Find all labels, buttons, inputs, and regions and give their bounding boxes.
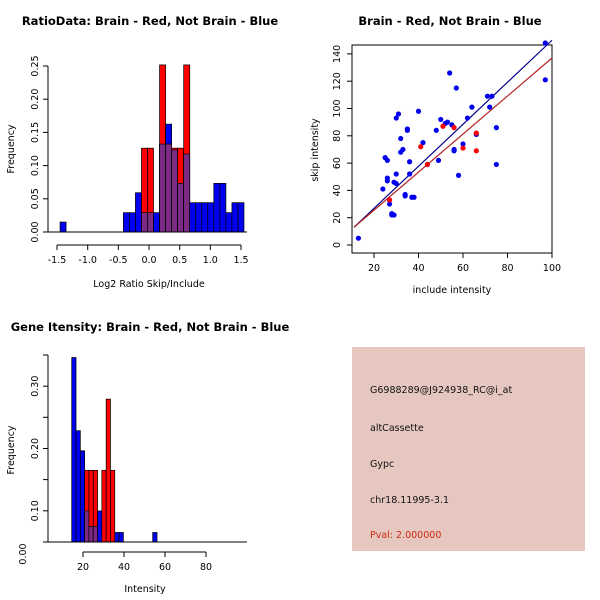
ratio-bar-blue <box>220 183 226 232</box>
scatter-x-tick-20: 20 <box>368 263 380 274</box>
ratio-bar-overlap <box>166 144 172 232</box>
ratio-bar-blue <box>202 203 208 232</box>
gene-bar-blue <box>119 532 123 542</box>
scatter-point <box>391 212 396 217</box>
scatter-point <box>465 115 470 120</box>
gene-bar-blue <box>153 532 157 542</box>
gene-x-tick-20: 20 <box>77 562 89 573</box>
ratio-y-ticklabels: 0.25 0.20 0.15 0.10 0.05 0.00 <box>30 55 41 242</box>
scatter-x-axis-label: include intensity <box>413 285 492 296</box>
ratio-bar-blue <box>154 213 160 232</box>
scatter-point <box>407 171 412 176</box>
scatter-point <box>474 130 479 135</box>
scatter-y-tick-20: 20 <box>332 212 343 224</box>
scatter-point <box>434 128 439 133</box>
gene-x-ticklabels: 20 40 60 80 <box>77 562 212 573</box>
scatter-y-tick-140: 140 <box>332 45 343 63</box>
ratio-bar-blue <box>232 203 238 232</box>
scatter-point <box>447 70 452 75</box>
scatter-point <box>425 162 430 167</box>
scatter-point <box>543 40 548 45</box>
gene-histogram-title: Gene Itensity: Brain - Red, Not Brain - … <box>0 320 300 334</box>
gene-y-ticklabels: 0.30 0.20 0.10 0.00 <box>18 376 41 565</box>
gene-info-panel: G6988289@J924938_RC@i_at altCassette Gyp… <box>352 347 585 551</box>
ratio-y-tick-0.10: 0.10 <box>30 155 41 176</box>
scatter-point <box>489 94 494 99</box>
ratio-bar-blue <box>190 203 196 232</box>
scatter-point <box>460 145 465 150</box>
panel-gene-intensity-histogram: Gene Itensity: Brain - Red, Not Brain - … <box>0 300 300 600</box>
scatter-x-axis <box>374 253 552 258</box>
gene-bar-blue <box>76 431 80 542</box>
scatter-point <box>394 171 399 176</box>
info-probe-id: G6988289@J924938_RC@i_at <box>370 385 512 396</box>
ratio-bar-blue <box>208 203 214 232</box>
ratio-x-axis <box>57 245 241 250</box>
ratio-x-tick-0.0: 0.0 <box>141 255 156 266</box>
scatter-point <box>436 158 441 163</box>
panel-intensity-scatter: Brain - Red, Not Brain - Blue 0 20 40 60… <box>300 0 600 300</box>
scatter-y-tick-80: 80 <box>332 130 343 142</box>
gene-y-axis-label: Frequency <box>6 425 17 474</box>
scatter-point <box>380 186 385 191</box>
gene-y-tick-0.00: 0.00 <box>18 543 29 564</box>
panel-ratio-histogram: RatioData: Brain - Red, Not Brain - Blue… <box>0 0 300 300</box>
ratio-y-tick-0.15: 0.15 <box>30 122 41 143</box>
scatter-point <box>440 124 445 129</box>
scatter-y-tick-100: 100 <box>332 99 343 117</box>
ratio-histogram-title: RatioData: Brain - Red, Not Brain - Blue <box>0 14 300 28</box>
scatter-point <box>385 178 390 183</box>
scatter-point <box>403 193 408 198</box>
scatter-svg: 0 20 40 60 80 100 120 140 skip intensity… <box>300 0 600 300</box>
gene-bar-blue <box>80 451 84 542</box>
ratio-x-tick--1.5: -1.5 <box>48 255 67 266</box>
gene-bar-red <box>106 399 110 542</box>
scatter-point <box>407 159 412 164</box>
gene-bar-red <box>110 470 114 542</box>
gene-bar-overlap <box>93 526 97 542</box>
scatter-x-tick-60: 60 <box>457 263 469 274</box>
scatter-point <box>454 85 459 90</box>
gene-bar-overlap <box>85 511 89 542</box>
scatter-point <box>469 105 474 110</box>
scatter-title: Brain - Red, Not Brain - Blue <box>300 14 600 28</box>
ratio-y-tick-0.00: 0.00 <box>30 221 41 242</box>
scatter-point <box>394 181 399 186</box>
scatter-point <box>418 144 423 149</box>
ratio-bar-blue <box>214 183 220 232</box>
scatter-point <box>452 148 457 153</box>
scatter-point <box>438 117 443 122</box>
gene-bar-blue <box>72 358 76 542</box>
ratio-bar-overlap <box>141 213 147 232</box>
scatter-point <box>445 120 450 125</box>
ratio-x-tick-1.0: 1.0 <box>203 255 218 266</box>
ratio-bar-blue <box>123 213 129 232</box>
ratio-x-ticklabels: -1.5 -1.0 -0.5 0.0 0.5 1.0 1.5 <box>48 255 249 266</box>
ratio-x-axis-label: Log2 Ratio Skip/Include <box>93 279 205 290</box>
ratio-bar-blue <box>196 203 202 232</box>
scatter-point <box>416 109 421 114</box>
ratio-y-axis-label: Frequency <box>6 124 17 173</box>
scatter-point <box>398 136 403 141</box>
ratio-x-tick-0.5: 0.5 <box>172 255 187 266</box>
gene-y-tick-0.20: 0.20 <box>30 438 41 459</box>
scatter-point <box>543 77 548 82</box>
ratio-bar-overlap <box>148 213 154 232</box>
scatter-points <box>356 40 548 240</box>
ratio-bar-overlap <box>172 150 178 232</box>
scatter-point <box>474 148 479 153</box>
gene-x-tick-80: 80 <box>200 562 212 573</box>
scatter-point <box>405 128 410 133</box>
ratio-y-tick-0.05: 0.05 <box>30 188 41 209</box>
gene-bars <box>72 358 157 542</box>
scatter-point <box>400 147 405 152</box>
ratio-bar-overlap <box>184 154 190 232</box>
ratio-y-tick-0.25: 0.25 <box>30 55 41 76</box>
info-pval: Pval: 2.000000 <box>370 530 441 541</box>
ratio-bars <box>60 65 244 232</box>
scatter-point <box>396 111 401 116</box>
gene-y-tick-0.30: 0.30 <box>30 376 41 397</box>
scatter-x-tick-40: 40 <box>412 263 424 274</box>
scatter-y-tick-60: 60 <box>332 157 343 169</box>
scatter-y-ticklabels: 0 20 40 60 80 100 120 140 <box>332 45 343 248</box>
gene-bar-blue <box>98 511 102 542</box>
ratio-bar-overlap <box>160 144 166 232</box>
gene-y-axis <box>43 355 48 542</box>
scatter-point <box>494 162 499 167</box>
ratio-bar-blue <box>60 222 66 232</box>
gene-y-tick-0.10: 0.10 <box>30 500 41 521</box>
scatter-point <box>456 173 461 178</box>
scatter-point <box>385 158 390 163</box>
scatter-y-tick-0: 0 <box>332 242 343 248</box>
gene-bar-overlap <box>89 526 93 542</box>
ratio-x-tick--0.5: -0.5 <box>109 255 128 266</box>
ratio-bar-blue <box>238 203 244 232</box>
ratio-bar-blue <box>226 213 232 232</box>
scatter-x-tick-100: 100 <box>543 263 561 274</box>
scatter-fit-blue-fit <box>354 40 552 227</box>
scatter-y-tick-40: 40 <box>332 184 343 196</box>
scatter-y-axis-label: skip intensity <box>310 118 321 182</box>
ratio-y-axis <box>43 66 48 232</box>
ratio-bar-blue <box>135 193 141 232</box>
scatter-fit-red-fit <box>354 58 552 227</box>
scatter-point <box>494 125 499 130</box>
scatter-x-tick-80: 80 <box>501 263 513 274</box>
info-gene-symbol: Gypc <box>370 459 394 470</box>
scatter-point <box>356 236 361 241</box>
scatter-x-ticklabels: 20 40 60 80 100 <box>368 263 561 274</box>
ratio-histogram-svg: 0.25 0.20 0.15 0.10 0.05 0.00 Frequency … <box>0 0 300 300</box>
gene-x-tick-40: 40 <box>118 562 130 573</box>
scatter-point <box>485 94 490 99</box>
info-locus: chr18.11995-3.1 <box>370 495 449 506</box>
scatter-point <box>411 195 416 200</box>
gene-histogram-svg: 0.30 0.20 0.10 0.00 Frequency 20 40 60 8… <box>0 300 300 600</box>
scatter-y-axis <box>347 54 352 245</box>
scatter-fit-lines <box>354 40 552 227</box>
ratio-y-tick-0.20: 0.20 <box>30 89 41 110</box>
scatter-y-tick-120: 120 <box>332 72 343 90</box>
gene-x-axis <box>83 552 206 557</box>
gene-x-axis-label: Intensity <box>124 584 166 595</box>
info-event-type: altCassette <box>370 423 424 434</box>
scatter-point <box>452 125 457 130</box>
scatter-point <box>387 197 392 202</box>
gene-bar-red <box>102 470 106 542</box>
gene-bar-blue <box>115 532 119 542</box>
gene-x-tick-60: 60 <box>159 562 171 573</box>
ratio-x-tick-1.5: 1.5 <box>233 255 248 266</box>
ratio-bar-overlap <box>178 183 184 232</box>
ratio-x-tick--1.0: -1.0 <box>78 255 97 266</box>
ratio-bar-blue <box>129 213 135 232</box>
scatter-point <box>487 105 492 110</box>
